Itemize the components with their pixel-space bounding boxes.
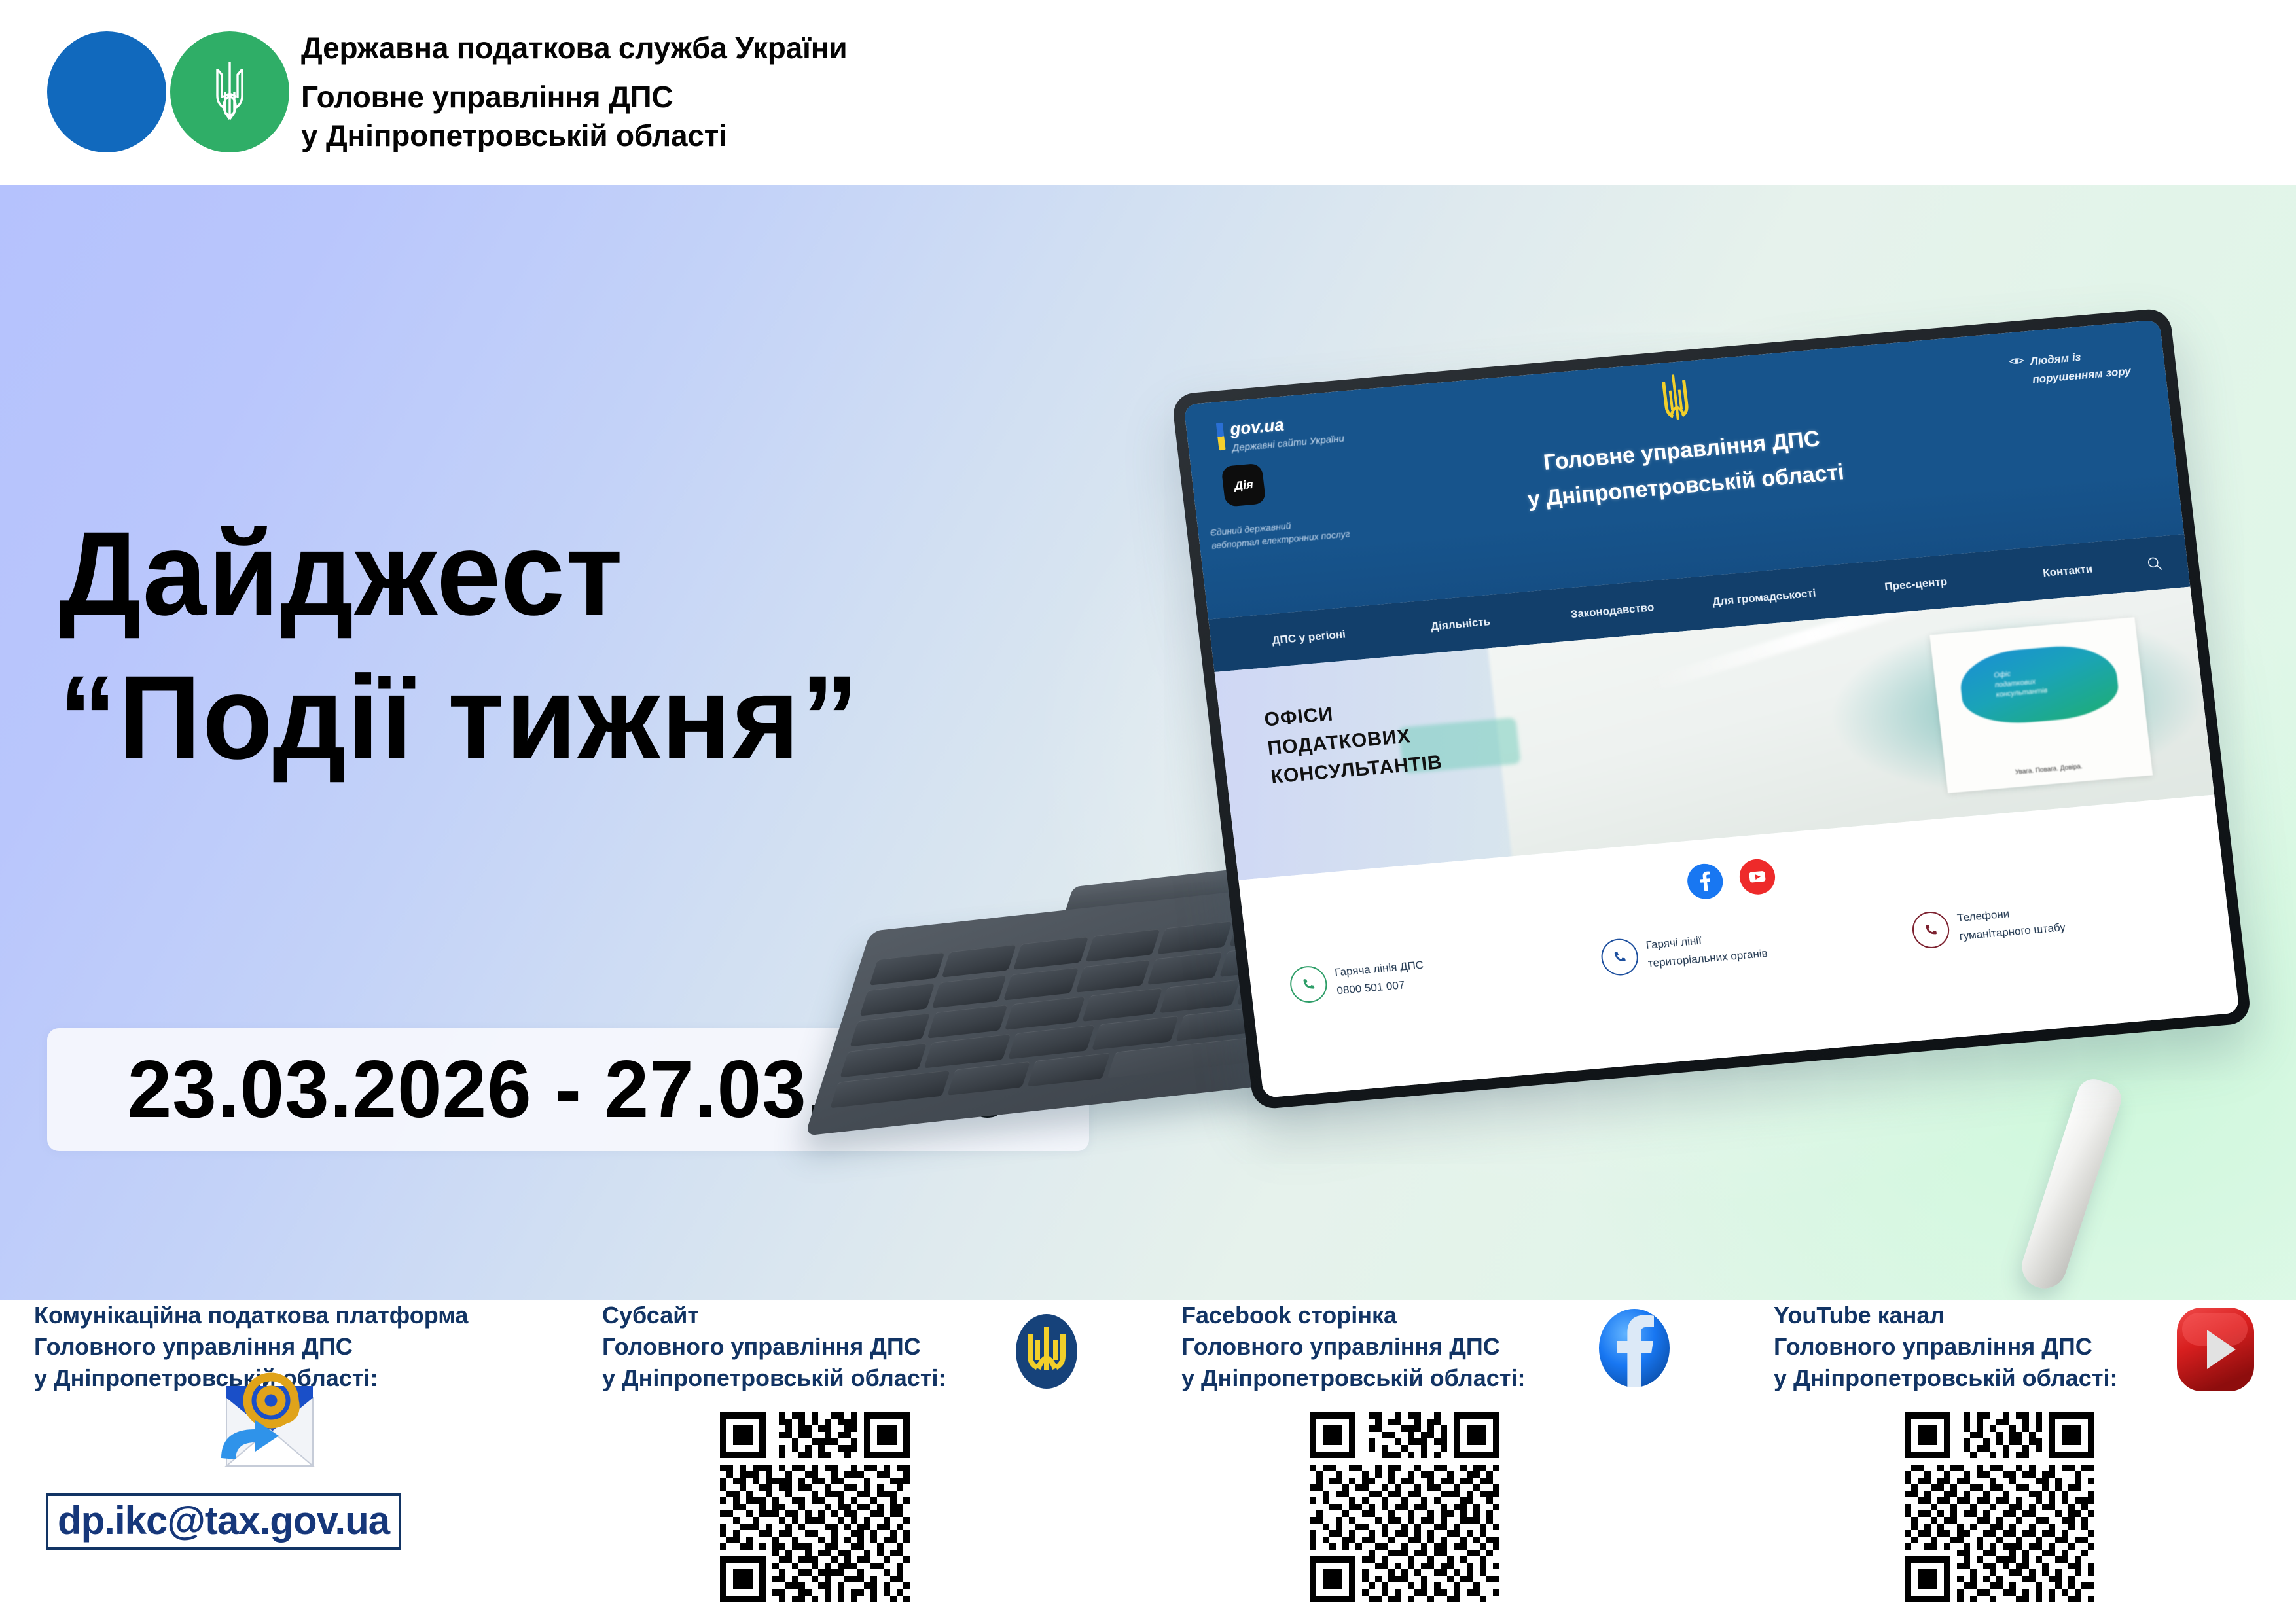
hero-title: ОФІСИ ПОДАТКОВИХ КОНСУЛЬТАНТІВ (1263, 691, 1444, 792)
contact-hotline-dps[interactable]: Гаряча лінія ДПС 0800 501 007 (1288, 944, 1568, 1004)
diia-label: Дія (1234, 478, 1254, 493)
email-address: dp.ikc@tax.gov.ua (58, 1499, 389, 1543)
trident-badge-icon[interactable] (1008, 1309, 1085, 1394)
qr-code-subsite[interactable] (720, 1412, 910, 1602)
footer-col-platform: Комунікаційна податкова платформа Головн… (34, 1300, 577, 1623)
contact-line-2: 0800 501 007 (1336, 974, 1427, 1000)
qr-code-facebook[interactable] (1310, 1412, 1499, 1602)
search-icon[interactable] (2143, 556, 2166, 572)
footer-col-facebook: Facebook сторінка Головного управління Д… (1181, 1300, 1705, 1623)
contact-line-1: Гарячі лінії (1645, 934, 1702, 951)
youtube-icon[interactable] (1738, 858, 1777, 896)
contact-territorial-hotlines[interactable]: Гарячі лінії територіальних органів (1599, 916, 1878, 976)
nav-item-legislation[interactable]: Законодавство (1535, 598, 1689, 624)
keyboard-key (931, 975, 1007, 1008)
email-envelope-icon (202, 1360, 339, 1478)
footer-col-subsite: Субсайт Головного управління ДПС у Дніпр… (602, 1300, 1113, 1623)
tablet-device: gov.ua Державні сайти України Дія Єдиний… (870, 323, 2284, 1300)
agency-title-block: Державна податкова служба України Головн… (301, 29, 847, 155)
keyboard-key (850, 1013, 930, 1047)
diia-badge[interactable]: Дія (1221, 463, 1266, 507)
phone-icon (1288, 965, 1329, 1005)
rollup-caption: Увага. Повага. Довіра. (1962, 758, 2135, 781)
contact-text: Гаряча лінія ДПС 0800 501 007 (1334, 956, 1427, 1000)
tax-consultants-logo-text: Офіс податкових консультантів (1994, 666, 2049, 700)
keyboard-key (941, 944, 1016, 978)
contact-text: Телефони гуманітарного штабу (1956, 900, 2067, 946)
agency-dept-line-1: Головне управління ДПС (301, 78, 847, 116)
nav-item-activity[interactable]: Діяльність (1384, 611, 1537, 637)
youtube-icon[interactable] (2166, 1300, 2265, 1399)
tax-consultants-logo: Офіс податкових консультантів (1957, 641, 2121, 728)
accessibility-text: Людям із порушенням зору (2029, 344, 2132, 389)
nav-item-region[interactable]: ДПС у регіоні (1232, 624, 1386, 651)
agency-logo (47, 31, 289, 152)
footer-title-line-1: Комунікаційна податкова платформа (34, 1300, 577, 1331)
phone-icon (1910, 910, 1951, 950)
nav-item-public[interactable]: Для громадськості (1687, 584, 1840, 611)
keyboard-key (927, 1005, 1008, 1039)
facebook-icon[interactable] (1592, 1305, 1676, 1391)
page-footer: Комунікаційна податкова платформа Головн… (0, 1300, 2296, 1623)
tablet-screen: gov.ua Державні сайти України Дія Єдиний… (1183, 319, 2239, 1097)
keyboard-key (1013, 936, 1088, 970)
keyboard-key (1027, 1053, 1110, 1087)
accessibility-link[interactable]: Людям із порушенням зору (2009, 344, 2132, 391)
contact-humanitarian-hq[interactable]: Телефони гуманітарного штабу (1910, 889, 2190, 950)
keyboard-key (840, 1043, 927, 1078)
keyboard-key (869, 952, 944, 986)
page-header: Державна податкова служба України Головн… (0, 0, 2296, 185)
keyboard-key (924, 1034, 1011, 1069)
contact-text: Гарячі лінії територіальних органів (1645, 926, 1768, 973)
agency-name-line: Державна податкова служба України (301, 29, 847, 67)
contact-line-1: Телефони (1956, 907, 2010, 924)
keyboard-key (1085, 929, 1160, 962)
keyboard-key (1147, 952, 1223, 985)
facebook-icon[interactable] (1685, 863, 1725, 901)
tablet-screen-body: gov.ua Державні сайти України Дія Єдиний… (1171, 308, 2251, 1110)
footer-title-line-2: Головного управління ДПС (34, 1331, 577, 1363)
nav-item-press-center[interactable]: Прес-центр (1839, 571, 1992, 597)
eye-icon (2009, 356, 2024, 366)
ukraine-flag-icon (1216, 422, 1226, 450)
email-box[interactable]: dp.ikc@tax.gov.ua (46, 1493, 401, 1550)
footer-col-youtube: YouTube канал Головного управління ДПС у… (1774, 1300, 2291, 1623)
keyboard-key (1082, 988, 1162, 1022)
keyboard-key (1092, 1016, 1179, 1050)
keyboard-key (1003, 967, 1079, 1001)
trident-icon (1658, 372, 1694, 425)
main-banner: Дайджест “Події тижня” 23.03.2026 - 27.0… (0, 185, 2296, 1300)
stylus-pen (2017, 1075, 2126, 1294)
keyboard-key (1005, 996, 1085, 1030)
phone-icon (1599, 937, 1640, 977)
logo-blue-circle (47, 31, 166, 152)
keyboard-key (1160, 979, 1240, 1013)
keyboard-key (859, 983, 935, 1016)
keyboard-key (1008, 1025, 1095, 1060)
qr-code-youtube[interactable] (1905, 1412, 2094, 1602)
keyboard-key (947, 1061, 1030, 1096)
gov-ua-label: gov.ua (1229, 414, 1285, 439)
agency-dept-line-2: у Дніпропетровській області (301, 116, 847, 155)
trident-icon (209, 56, 250, 127)
keyboard-key (1157, 921, 1232, 954)
nav-item-contacts[interactable]: Контакти (1991, 558, 2144, 584)
keyboard-key (1075, 959, 1151, 993)
hero-rollup-banner: Офіс податкових консультантів Увага. Пов… (1929, 617, 2153, 793)
